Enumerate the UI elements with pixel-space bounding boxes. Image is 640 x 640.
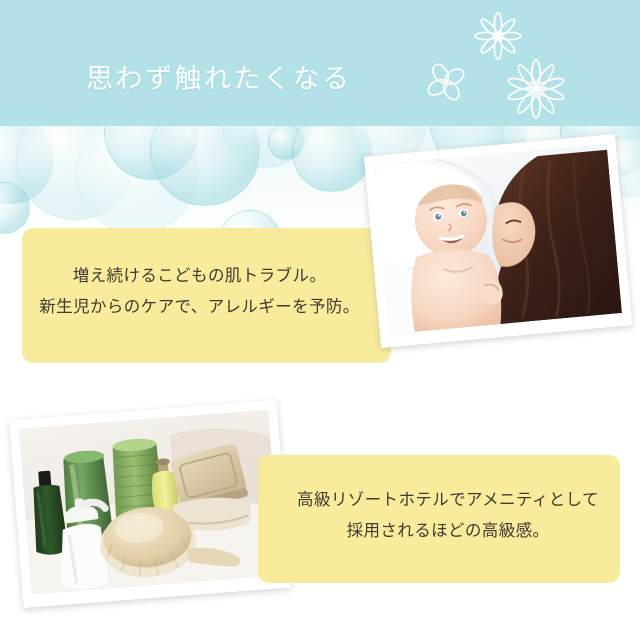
info-card-baby-text: 増え続けるこどもの肌トラブル。 新生児からのケアで、アレルギーを予防。: [22, 261, 377, 323]
info-card-amenity: 高級リゾートホテルでアメニティとして 採用されるほどの高級感。: [258, 455, 620, 583]
photo-mother-and-baby: [364, 134, 632, 348]
photo-bath-amenities-image: [19, 410, 281, 595]
info-card-amenity-text: 高級リゾートホテルでアメニティとして 採用されるほどの高級感。: [276, 485, 620, 547]
promo-page: 思わず触れたくなる プルプルのベビー肌へ: [0, 0, 640, 640]
page-title-line1: 思わず触れたくなる: [86, 64, 352, 94]
photo-mother-and-baby-image: [374, 144, 622, 335]
flower-daisy-small-icon: [472, 10, 524, 62]
flower-four-petal-icon: [420, 58, 472, 106]
flower-daisy-large-icon: [505, 57, 567, 121]
info-card-baby: 増え続けるこどもの肌トラブル。 新生児からのケアで、アレルギーを予防。: [22, 228, 391, 363]
photo-mother-and-baby-illustration: [374, 144, 622, 335]
page-title: 思わず触れたくなる プルプルのベビー肌へ: [26, 24, 352, 126]
photo-bath-amenities: [9, 400, 291, 608]
photo-bath-amenities-illustration: [19, 410, 281, 595]
header-banner: 思わず触れたくなる プルプルのベビー肌へ: [0, 0, 640, 126]
